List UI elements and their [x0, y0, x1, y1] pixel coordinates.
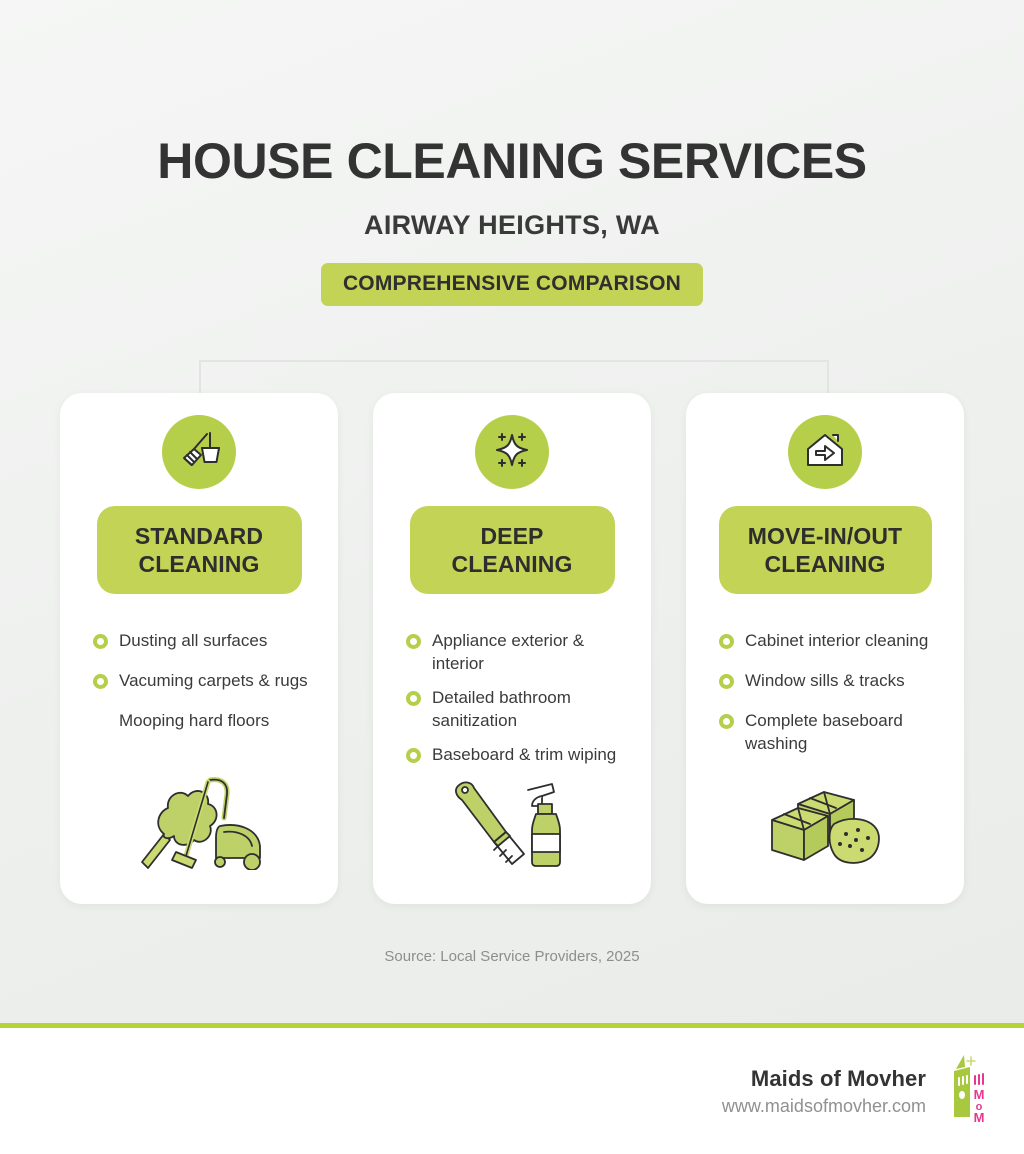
bullet-ring-icon: [93, 634, 108, 649]
icon-circle: [162, 415, 236, 489]
bullet-ring-icon: [719, 714, 734, 729]
broom-dustpan-icon: [176, 427, 222, 478]
footer-text-block: Maids of Movher www.maidsofmovher.com: [722, 1066, 926, 1117]
brand-url[interactable]: www.maidsofmovher.com: [722, 1096, 926, 1117]
feature-text: Baseboard & trim wiping: [432, 744, 616, 767]
service-card-deep-cleaning[interactable]: DEEP CLEANING Appliance exterior & inter…: [373, 393, 651, 904]
bullet-ring-icon: [406, 748, 421, 763]
logo-mark: M o M: [946, 1053, 998, 1129]
feature-item: Appliance exterior & interior: [406, 630, 629, 676]
card-title: STANDARD CLEANING: [97, 506, 302, 594]
feature-text: Dusting all surfaces: [119, 630, 267, 653]
source-note: Source: Local Service Providers, 2025: [0, 948, 1024, 965]
page-title: HOUSE CLEANING SERVICES: [0, 134, 1024, 189]
service-card-move-in-out-cleaning[interactable]: MOVE-IN/OUT CLEANING Cabinet interior cl…: [686, 393, 964, 904]
footer: Maids of Movher www.maidsofmovher.com: [0, 1028, 1024, 1154]
bullet-ring-icon: [93, 714, 108, 729]
feature-text: Cabinet interior cleaning: [745, 630, 928, 653]
svg-text:M: M: [974, 1110, 985, 1125]
connector-bracket: [199, 360, 829, 394]
feature-item: Baseboard & trim wiping: [406, 744, 629, 767]
boxes-sponge-illustration: [702, 786, 948, 884]
bullet-ring-icon: [406, 634, 421, 649]
feature-text: Complete baseboard washing: [745, 710, 942, 756]
feature-text: Mooping hard floors: [119, 710, 269, 733]
feature-item: Complete baseboard washing: [719, 710, 942, 756]
service-card-standard-cleaning[interactable]: STANDARD CLEANING Dusting all surfaces V…: [60, 393, 338, 904]
feature-item: Window sills & tracks: [719, 670, 942, 693]
bullet-ring-icon: [406, 691, 421, 706]
feature-text: Window sills & tracks: [745, 670, 905, 693]
feature-list: Appliance exterior & interior Detailed b…: [389, 630, 635, 778]
duster-vacuum-illustration: [76, 774, 322, 884]
comparison-badge: COMPREHENSIVE COMPARISON: [321, 263, 703, 306]
feature-text: Appliance exterior & interior: [432, 630, 629, 676]
feature-item: Detailed bathroom sanitization: [406, 687, 629, 733]
brush-spray-bottle-illustration: [389, 778, 635, 884]
bullet-ring-icon: [93, 674, 108, 689]
feature-list: Cabinet interior cleaning Window sills &…: [702, 630, 948, 773]
feature-item: Cabinet interior cleaning: [719, 630, 942, 653]
page-subtitle: AIRWAY HEIGHTS, WA: [0, 210, 1024, 241]
badge-container: COMPREHENSIVE COMPARISON: [0, 263, 1024, 306]
feature-item: Vacuming carpets & rugs: [93, 670, 316, 693]
card-title: MOVE-IN/OUT CLEANING: [719, 506, 932, 594]
card-title: DEEP CLEANING: [410, 506, 615, 594]
sparkle-icon: [489, 427, 535, 478]
feature-item: Mooping hard floors: [93, 710, 316, 733]
feature-text: Detailed bathroom sanitization: [432, 687, 629, 733]
brand-name: Maids of Movher: [722, 1066, 926, 1092]
feature-list: Dusting all surfaces Vacuming carpets & …: [76, 630, 322, 750]
feature-text: Vacuming carpets & rugs: [119, 670, 308, 693]
feature-item: Dusting all surfaces: [93, 630, 316, 653]
poster-body: HOUSE CLEANING SERVICES AIRWAY HEIGHTS, …: [0, 0, 1024, 1023]
bullet-ring-icon: [719, 674, 734, 689]
service-cards-row: STANDARD CLEANING Dusting all surfaces V…: [60, 393, 964, 904]
header: HOUSE CLEANING SERVICES AIRWAY HEIGHTS, …: [0, 0, 1024, 306]
house-arrow-icon: [802, 427, 848, 478]
bullet-ring-icon: [719, 634, 734, 649]
svg-text:M: M: [974, 1087, 985, 1102]
icon-circle: [788, 415, 862, 489]
icon-circle: [475, 415, 549, 489]
